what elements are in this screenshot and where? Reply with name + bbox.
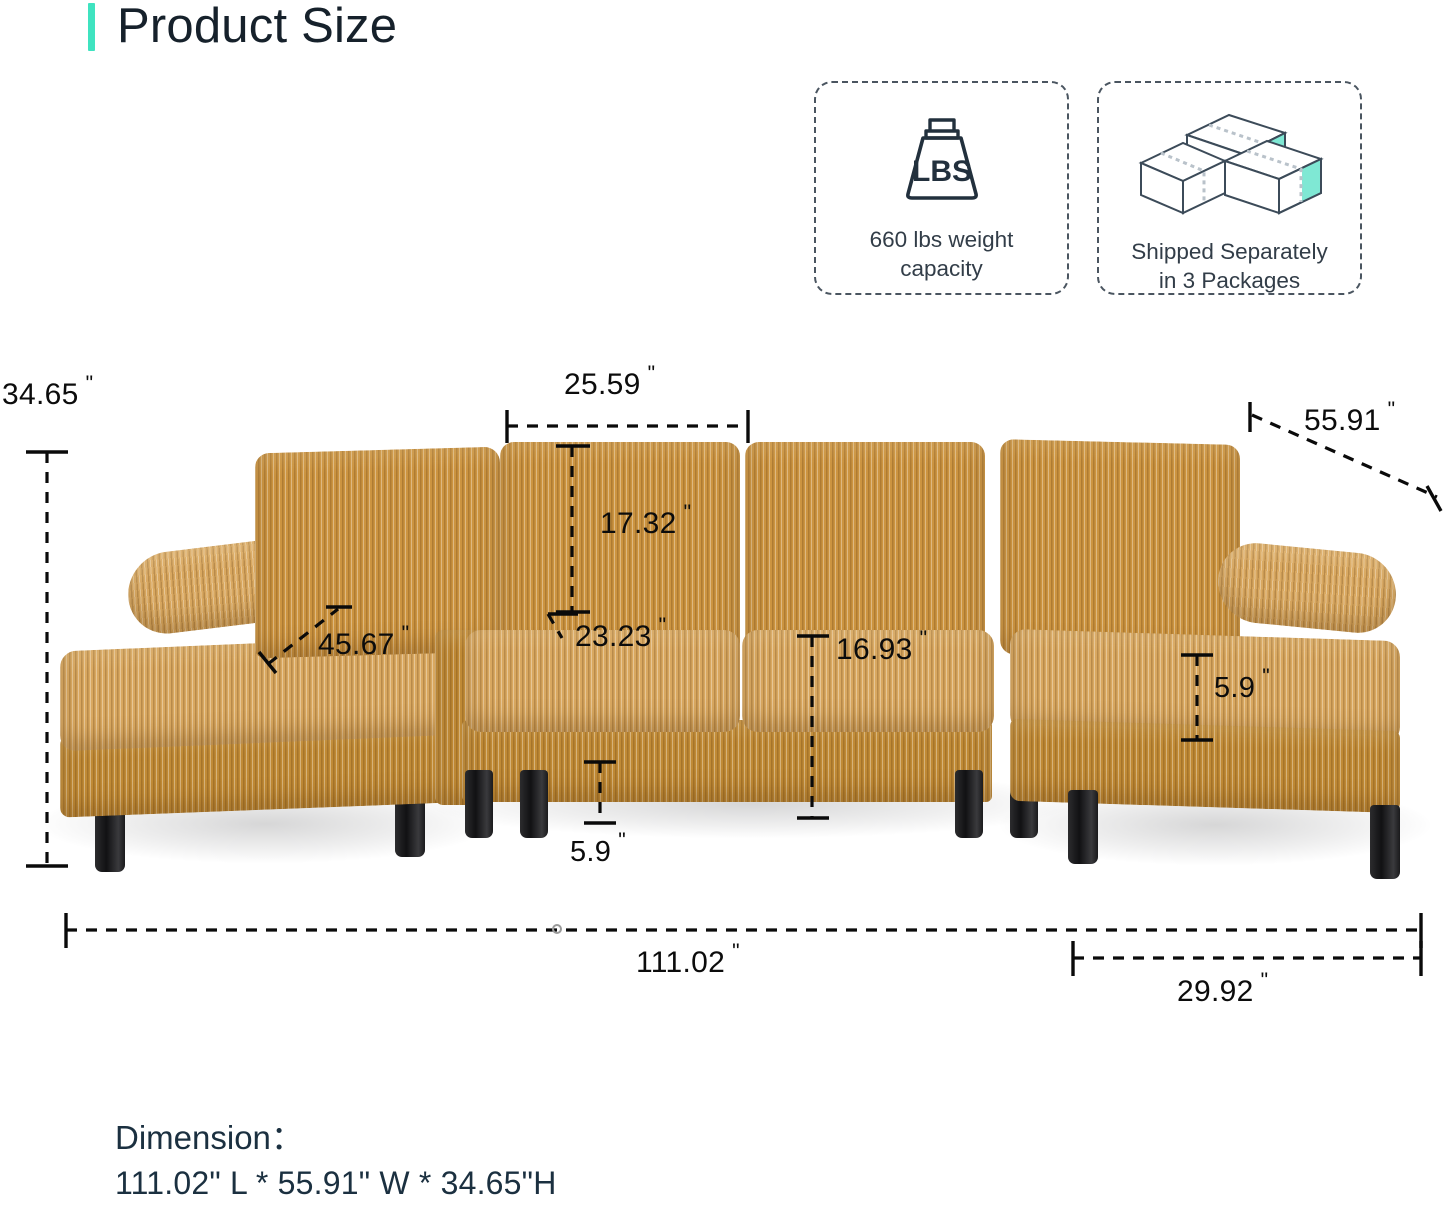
dimension-label-depth: 55.91" [1304, 398, 1396, 438]
dimension-label-seat-depth: 23.23" [575, 614, 667, 654]
dimension-label-chaise-width: 29.92" [1177, 969, 1269, 1009]
dimension-label-chaise-diagonal: 45.67" [318, 622, 410, 662]
dimension-label-back-cushion-height: 17.32" [600, 501, 692, 541]
dimension-label-leg-height: 5.9" [570, 829, 627, 869]
dimension-summary: Dimension： 111.02" L * 55.91" W * 34.65"… [115, 1119, 557, 1202]
dimension-label-total-length: 111.02" [636, 940, 741, 980]
dimension-label-cushion-thickness: 5.9" [1214, 665, 1271, 705]
dimension-value: 111.02" L * 55.91" W * 34.65"H [115, 1164, 557, 1202]
dimension-label-seat-height: 16.93" [836, 627, 928, 667]
dimension-annotations [0, 0, 1445, 1217]
dimension-label-back-width: 25.59" [564, 362, 656, 402]
dimension-heading: Dimension： [115, 1119, 557, 1158]
dimension-label-height: 34.65" [2, 372, 94, 412]
